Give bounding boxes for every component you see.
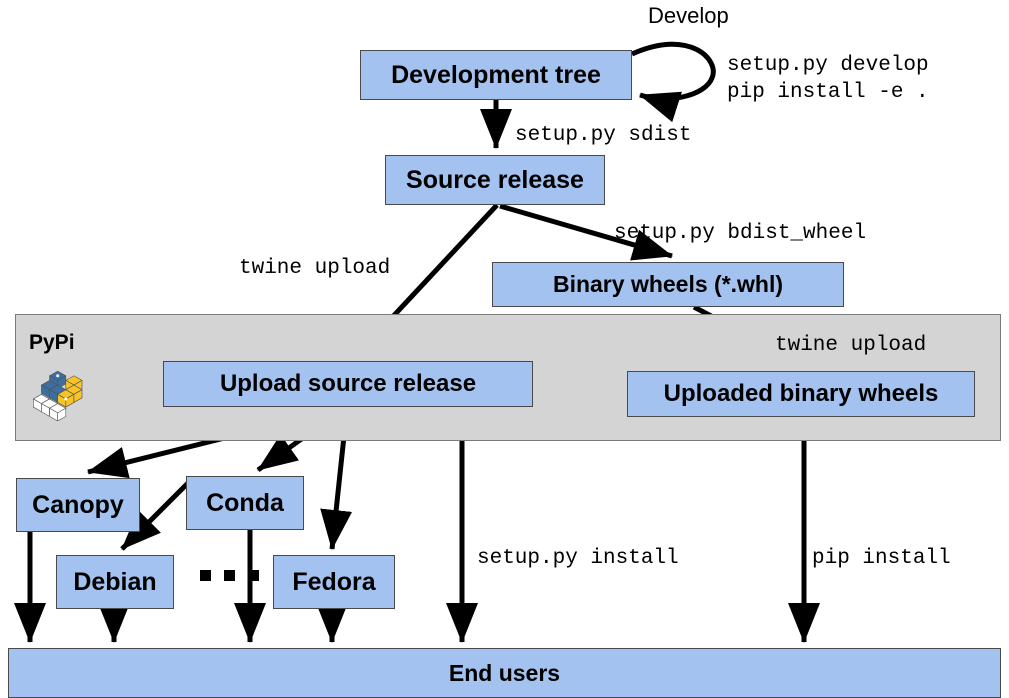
- node-fedora: Fedora: [273, 555, 395, 609]
- node-conda: Conda: [186, 476, 304, 530]
- twine-upload-whl-label: twine upload: [775, 332, 926, 359]
- dot: [200, 570, 211, 581]
- bdist-wheel-label: setup.py bdist_wheel: [614, 220, 866, 247]
- setup-develop-label: setup.py develop pip install -e .: [727, 52, 929, 106]
- node-upload-source-release: Upload source release: [163, 361, 533, 407]
- node-label: Uploaded binary wheels: [664, 380, 939, 408]
- node-label: Canopy: [32, 491, 124, 520]
- dot: [224, 570, 235, 581]
- pypi-logo-icon: [31, 363, 89, 421]
- more-distros-ellipsis: [200, 570, 259, 581]
- develop-label: Develop: [648, 3, 729, 29]
- node-label: Fedora: [292, 568, 375, 597]
- node-label: Debian: [73, 568, 156, 597]
- node-source-release: Source release: [385, 155, 605, 205]
- node-end-users: End users: [8, 648, 1001, 698]
- pypi-logo-svg: [31, 363, 89, 421]
- node-canopy: Canopy: [16, 478, 140, 532]
- sdist-label: setup.py sdist: [515, 122, 691, 149]
- setup-install-label: setup.py install: [477, 545, 679, 572]
- node-debian: Debian: [56, 555, 174, 609]
- diagram-canvas: PyPi: [0, 0, 1009, 698]
- node-label: End users: [449, 660, 560, 687]
- node-label: Development tree: [391, 61, 601, 90]
- pypi-panel-label: PyPi: [29, 331, 75, 355]
- twine-upload-src-label: twine upload: [239, 255, 390, 282]
- edge-develop-self-loop: [632, 44, 713, 99]
- node-label: Upload source release: [220, 370, 476, 398]
- node-label: Source release: [406, 166, 584, 195]
- node-label: Binary wheels (*.whl): [553, 271, 783, 298]
- node-label: Conda: [206, 489, 284, 518]
- node-binary-wheels: Binary wheels (*.whl): [492, 262, 844, 307]
- node-uploaded-binary-wheels: Uploaded binary wheels: [627, 371, 975, 417]
- node-development-tree: Development tree: [360, 50, 632, 100]
- pip-install-label: pip install: [812, 545, 951, 572]
- dot: [248, 570, 259, 581]
